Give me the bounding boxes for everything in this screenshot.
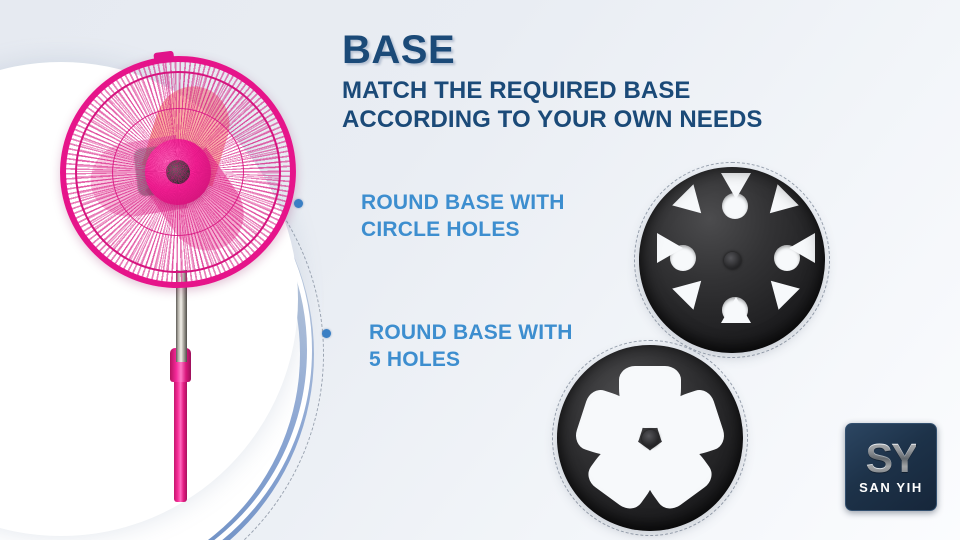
product-image-round-base-5-holes xyxy=(552,340,748,536)
product-image-round-base-circle-holes xyxy=(634,162,830,358)
base-triangle-cutout xyxy=(657,233,683,263)
bullet-dot-icon xyxy=(294,199,303,208)
subtitle-line-2: ACCORDING TO YOUR OWN NEEDS xyxy=(342,105,902,134)
base-disc-5-holes xyxy=(557,345,743,531)
base-disc-circle-holes xyxy=(639,167,825,353)
base-triangle-cutout xyxy=(672,270,712,310)
base-triangle-cutout xyxy=(760,270,800,310)
bullet-label-5-holes: ROUND BASE WITH 5 HOLES xyxy=(369,320,573,374)
base-triangle-cutout xyxy=(789,233,815,263)
base-triangle-cutout xyxy=(672,184,712,224)
bullet-label-circle-holes: ROUND BASE WITH CIRCLE HOLES xyxy=(361,190,565,244)
base-triangle-cutout xyxy=(721,173,751,199)
logo-brand-name: SAN YIH xyxy=(859,480,923,495)
product-image-stand-fan xyxy=(38,38,306,498)
base-center-hub xyxy=(642,430,659,447)
fan-head xyxy=(47,42,310,301)
page-title: BASE xyxy=(342,30,902,70)
logo-monogram: SY xyxy=(866,439,917,478)
bullet-dot-icon xyxy=(322,329,331,338)
list-item[interactable]: ROUND BASE WITH CIRCLE HOLES xyxy=(294,190,634,244)
base-triangle-cutout xyxy=(759,184,799,224)
slide-canvas: BASE MATCH THE REQUIRED BASE ACCORDING T… xyxy=(0,0,960,540)
fan-guard-mesh-outer xyxy=(47,42,310,301)
feature-bullet-list: ROUND BASE WITH CIRCLE HOLES ROUND BASE … xyxy=(294,190,634,374)
heading-block: BASE MATCH THE REQUIRED BASE ACCORDING T… xyxy=(342,30,902,135)
base-triangle-cutout xyxy=(721,297,751,323)
brand-logo[interactable]: SY SAN YIH xyxy=(845,423,937,511)
subtitle-line-1: MATCH THE REQUIRED BASE xyxy=(342,76,902,105)
base-center-hub xyxy=(724,252,741,269)
